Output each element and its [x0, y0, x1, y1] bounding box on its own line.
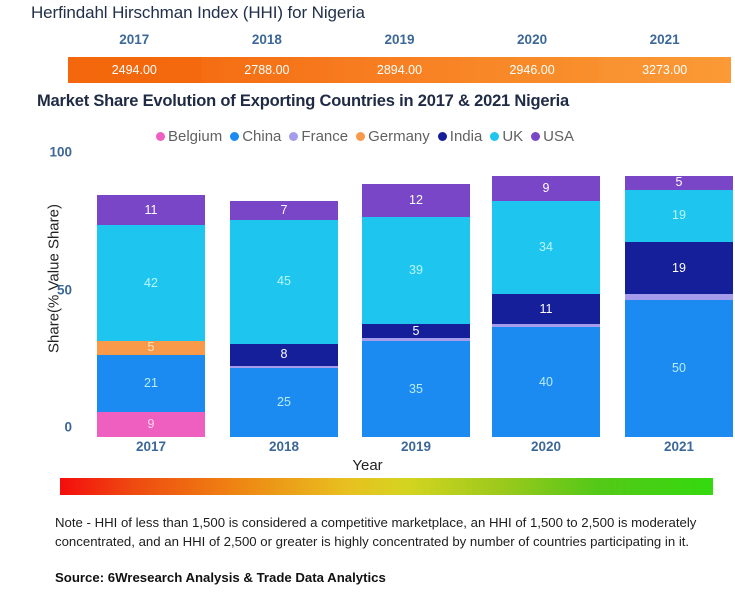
bar-segment-value: 11 — [540, 303, 553, 316]
hhi-value-2017: 2494.00 — [68, 57, 201, 83]
bar-segment-value: 9 — [148, 418, 155, 431]
bar-segment-value: 11 — [145, 204, 158, 217]
legend-label: UK — [502, 128, 523, 145]
legend-swatch-icon — [289, 132, 298, 141]
bar-segment-value: 5 — [148, 341, 155, 354]
hhi-value-bar: 2494.002788.002894.002946.003273.00 — [68, 57, 731, 83]
x-tick-2020: 2020 — [492, 439, 600, 454]
bar-segment-value: 40 — [539, 376, 553, 389]
bar-segment-value: 35 — [409, 383, 423, 396]
bar-segment-value: 39 — [409, 264, 423, 277]
legend-label: USA — [543, 128, 574, 145]
legend-swatch-icon — [356, 132, 365, 141]
bar-segment-value: 5 — [413, 325, 420, 338]
legend-item-uk[interactable]: UK — [490, 128, 523, 145]
hhi-value-2018: 2788.00 — [201, 57, 334, 83]
bar-segment-2019-india[interactable]: 5 — [362, 324, 470, 338]
stacked-bar-2017[interactable]: 11425219 — [97, 195, 205, 437]
bar-segment-2017-uk[interactable]: 42 — [97, 225, 205, 341]
hhi-year-2017: 2017 — [68, 32, 201, 52]
stacked-bar-2021[interactable]: 5191950 — [625, 176, 733, 437]
bar-segment-value: 21 — [144, 377, 158, 390]
hhi-year-2019: 2019 — [333, 32, 466, 52]
footnote-text: Note - HHI of less than 1,500 is conside… — [55, 513, 717, 551]
legend-swatch-icon — [490, 132, 499, 141]
hhi-market-share-infographic: Herfindahl Hirschman Index (HHI) for Nig… — [0, 0, 735, 600]
stacked-bar-2020[interactable]: 9341140 — [492, 176, 600, 437]
bar-segment-value: 45 — [277, 275, 291, 288]
bar-segment-2018-uk[interactable]: 45 — [230, 220, 338, 344]
bar-segment-2017-belgium[interactable]: 9 — [97, 412, 205, 437]
hhi-year-2018: 2018 — [201, 32, 334, 52]
legend-swatch-icon — [230, 132, 239, 141]
legend-item-belgium[interactable]: Belgium — [156, 128, 222, 145]
stacked-bar-2018[interactable]: 745825 — [230, 201, 338, 438]
x-tick-2019: 2019 — [362, 439, 470, 454]
x-axis-label: Year — [0, 457, 735, 474]
legend-item-china[interactable]: China — [230, 128, 281, 145]
bar-segment-2019-uk[interactable]: 39 — [362, 217, 470, 324]
bar-segment-value: 5 — [676, 176, 683, 189]
hhi-year-2021: 2021 — [598, 32, 731, 52]
chart-legend: BelgiumChinaFranceGermanyIndiaUKUSA — [0, 128, 735, 145]
bar-segment-2018-india[interactable]: 8 — [230, 344, 338, 366]
legend-label: Germany — [368, 128, 430, 145]
hhi-value-2020: 2946.00 — [466, 57, 599, 83]
x-tick-2018: 2018 — [230, 439, 338, 454]
bar-segment-value: 8 — [281, 348, 288, 361]
legend-item-india[interactable]: India — [438, 128, 483, 145]
bar-segment-2018-usa[interactable]: 7 — [230, 201, 338, 220]
legend-label: France — [301, 128, 348, 145]
bar-segment-2019-usa[interactable]: 12 — [362, 184, 470, 217]
legend-swatch-icon — [156, 132, 165, 141]
bar-segment-2020-uk[interactable]: 34 — [492, 201, 600, 295]
bar-segment-value: 25 — [277, 396, 291, 409]
chart-title: Market Share Evolution of Exporting Coun… — [37, 92, 569, 111]
bar-segment-2021-usa[interactable]: 5 — [625, 176, 733, 190]
legend-label: China — [242, 128, 281, 145]
concentration-gradient-strip — [60, 478, 713, 495]
x-tick-2021: 2021 — [625, 439, 733, 454]
legend-swatch-icon — [531, 132, 540, 141]
bar-segment-2020-china[interactable]: 40 — [492, 327, 600, 437]
bar-segment-value: 9 — [543, 182, 550, 195]
bar-segment-value: 12 — [409, 194, 423, 207]
hhi-year-2020: 2020 — [466, 32, 599, 52]
hhi-year-header-row: 20172018201920202021 — [68, 32, 731, 52]
bar-segment-value: 7 — [281, 204, 288, 217]
legend-swatch-icon — [438, 132, 447, 141]
stacked-bar-2019[interactable]: 1239535 — [362, 184, 470, 437]
bar-segment-2020-usa[interactable]: 9 — [492, 176, 600, 201]
bar-segment-value: 42 — [144, 277, 158, 290]
legend-label: Belgium — [168, 128, 222, 145]
x-tick-2017: 2017 — [97, 439, 205, 454]
legend-item-usa[interactable]: USA — [531, 128, 574, 145]
bar-segment-value: 19 — [672, 209, 686, 222]
source-text: Source: 6Wresearch Analysis & Trade Data… — [55, 570, 386, 585]
legend-item-france[interactable]: France — [289, 128, 348, 145]
bar-segment-value: 34 — [539, 241, 553, 254]
bars-container: 1142521920177458252018123953520199341140… — [0, 152, 735, 437]
bar-segment-2021-uk[interactable]: 19 — [625, 190, 733, 242]
bar-segment-2021-china[interactable]: 50 — [625, 300, 733, 438]
bar-segment-2020-india[interactable]: 11 — [492, 294, 600, 324]
legend-label: India — [450, 128, 483, 145]
bar-segment-2021-india[interactable]: 19 — [625, 242, 733, 294]
bar-segment-value: 19 — [672, 262, 686, 275]
bar-segment-value: 50 — [672, 362, 686, 375]
bar-segment-2017-usa[interactable]: 11 — [97, 195, 205, 225]
bar-segment-2017-germany[interactable]: 5 — [97, 341, 205, 355]
hhi-title: Herfindahl Hirschman Index (HHI) for Nig… — [31, 3, 365, 23]
legend-item-germany[interactable]: Germany — [356, 128, 430, 145]
bar-segment-2019-china[interactable]: 35 — [362, 341, 470, 437]
chart-plot-area: Share(% Value Share) 050100 114252192017… — [0, 152, 735, 437]
bar-segment-2017-china[interactable]: 21 — [97, 355, 205, 413]
bar-segment-2018-china[interactable]: 25 — [230, 368, 338, 437]
hhi-value-2019: 2894.00 — [333, 57, 466, 83]
hhi-value-2021: 3273.00 — [598, 57, 731, 83]
